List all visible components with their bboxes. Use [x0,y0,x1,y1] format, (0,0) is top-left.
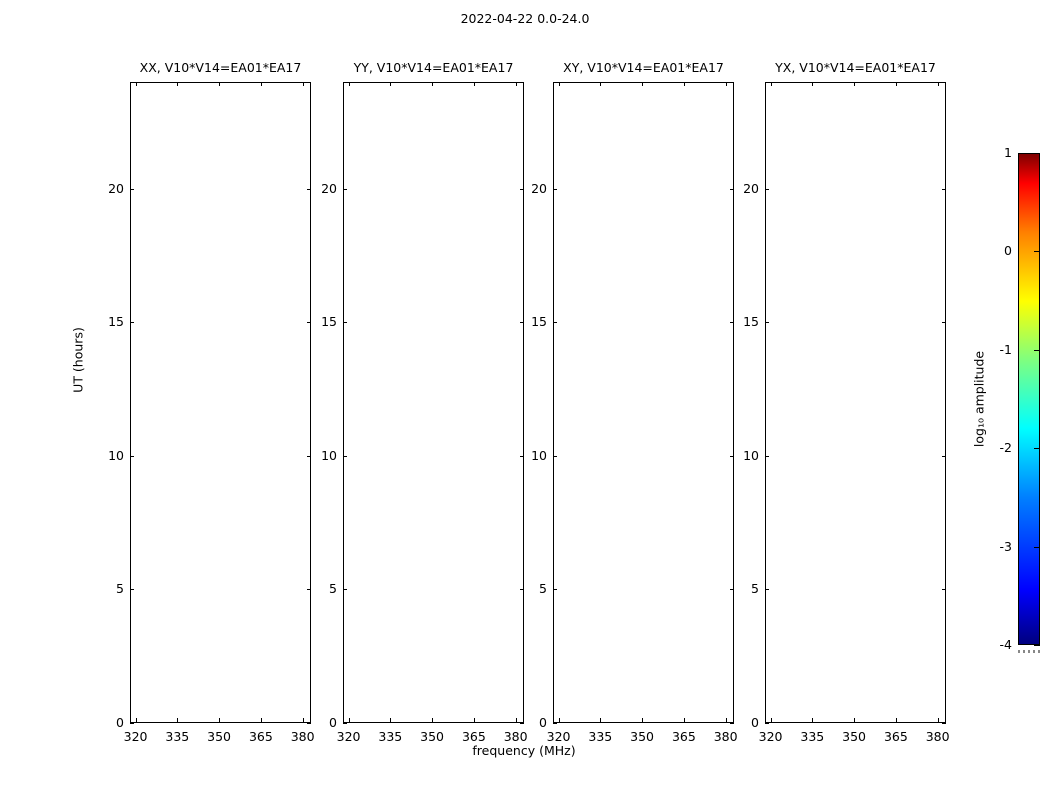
x-tick-label: 350 [199,729,239,744]
x-tick-mark-top [516,82,517,86]
panel-title-yy: YY, V10*V14=EA01*EA17 [343,60,524,75]
heatmap-panel-xx[interactable] [130,82,311,723]
colorbar-tick-mark [1034,448,1040,449]
x-tick-mark-top [896,82,897,86]
colorbar [1018,153,1040,645]
x-tick-mark [684,718,685,722]
figure-canvas: 2022-04-22 0.0-24.0 XX, V10*V14=EA01*EA1… [0,0,1050,800]
y-tick-mark-right [942,322,946,323]
x-tick-mark [726,718,727,722]
x-tick-mark [261,718,262,722]
x-tick-label: 350 [834,729,874,744]
x-tick-mark-top [432,82,433,86]
x-tick-label: 335 [157,729,197,744]
y-tick-mark [765,189,769,190]
heatmap-image-yx [766,83,945,722]
colorbar-tick-mark [1034,350,1040,351]
y-tick-mark [343,589,347,590]
y-tick-mark [553,456,557,457]
x-axis-label: frequency (MHz) [0,743,1049,758]
x-tick-mark [390,718,391,722]
x-tick-mark-top [812,82,813,86]
x-tick-label: 365 [241,729,281,744]
x-tick-label: 350 [412,729,452,744]
x-tick-mark-top [771,82,772,86]
colorbar-label: log₁₀ amplitude [972,351,987,447]
x-tick-label: 380 [706,729,746,744]
y-tick-label: 10 [521,448,547,463]
heatmap-image-xy [554,83,733,722]
y-tick-label: 20 [311,181,337,196]
figure-suptitle: 2022-04-22 0.0-24.0 [0,11,1050,26]
x-tick-mark [771,718,772,722]
colorbar-bad-marker [1018,650,1040,653]
x-tick-label: 365 [664,729,704,744]
colorbar-tick-label: -3 [988,539,1012,554]
colorbar-tick-label: -4 [988,637,1012,652]
y-tick-mark [130,322,134,323]
colorbar-tick-mark [1034,153,1040,154]
x-tick-mark [474,718,475,722]
y-tick-mark [130,456,134,457]
heatmap-panel-yy[interactable] [343,82,524,723]
x-tick-mark [349,718,350,722]
y-tick-label: 10 [733,448,759,463]
y-tick-mark [343,723,347,724]
x-tick-label: 365 [876,729,916,744]
heatmap-panel-yx[interactable] [765,82,946,723]
y-tick-mark-right [942,189,946,190]
x-tick-mark [432,718,433,722]
x-tick-mark-top [177,82,178,86]
x-tick-mark [854,718,855,722]
y-tick-label: 0 [733,715,759,730]
y-tick-mark [343,456,347,457]
y-tick-label: 0 [98,715,124,730]
y-tick-mark [553,723,557,724]
x-tick-mark-top [600,82,601,86]
x-tick-label: 335 [792,729,832,744]
x-tick-mark [812,718,813,722]
y-tick-mark [553,189,557,190]
x-tick-mark-top [474,82,475,86]
y-tick-label: 15 [521,314,547,329]
x-tick-label: 320 [751,729,791,744]
x-tick-mark [136,718,137,722]
colorbar-tick-mark [1034,645,1040,646]
y-tick-mark [765,589,769,590]
y-tick-mark [765,456,769,457]
x-tick-mark-top [390,82,391,86]
x-tick-label: 365 [454,729,494,744]
x-tick-label: 335 [370,729,410,744]
x-tick-mark-top [349,82,350,86]
x-tick-mark-top [261,82,262,86]
x-tick-mark-top [854,82,855,86]
y-tick-mark [553,589,557,590]
y-tick-mark [553,322,557,323]
panel-title-xy: XY, V10*V14=EA01*EA17 [553,60,734,75]
y-tick-label: 10 [98,448,124,463]
y-tick-mark-right [942,456,946,457]
y-tick-label: 5 [98,581,124,596]
x-tick-mark-top [559,82,560,86]
y-tick-mark-right [942,723,946,724]
colorbar-tick-label: 0 [988,243,1012,258]
y-tick-mark [130,589,134,590]
x-tick-mark-top [219,82,220,86]
y-tick-mark [130,189,134,190]
x-tick-mark [177,718,178,722]
x-tick-label: 380 [283,729,323,744]
colorbar-tick-mark [1034,547,1040,548]
y-tick-mark [130,723,134,724]
y-tick-label: 0 [311,715,337,730]
heatmap-image-yy [344,83,523,722]
y-axis-label: UT (hours) [71,327,86,393]
y-tick-mark [765,723,769,724]
x-tick-label: 320 [116,729,156,744]
x-tick-label: 320 [539,729,579,744]
y-tick-label: 5 [521,581,547,596]
x-tick-mark-top [938,82,939,86]
x-tick-mark [642,718,643,722]
x-tick-mark [516,718,517,722]
y-tick-label: 20 [98,181,124,196]
x-tick-mark [896,718,897,722]
x-tick-mark [938,718,939,722]
heatmap-image-xx [131,83,310,722]
x-tick-label: 320 [329,729,369,744]
x-tick-label: 380 [918,729,958,744]
y-tick-label: 5 [733,581,759,596]
x-tick-mark [559,718,560,722]
colorbar-tick-label: 1 [988,145,1012,160]
x-tick-label: 380 [496,729,536,744]
y-tick-label: 15 [98,314,124,329]
x-tick-mark-top [303,82,304,86]
x-tick-mark-top [726,82,727,86]
x-tick-mark-top [684,82,685,86]
y-tick-label: 5 [311,581,337,596]
y-tick-mark-right [942,589,946,590]
y-tick-label: 20 [733,181,759,196]
y-tick-mark [765,322,769,323]
heatmap-panel-xy[interactable] [553,82,734,723]
y-tick-label: 15 [311,314,337,329]
colorbar-tick-label: -1 [988,342,1012,357]
colorbar-tick-mark [1034,251,1040,252]
y-tick-label: 0 [521,715,547,730]
x-tick-mark [303,718,304,722]
y-tick-label: 15 [733,314,759,329]
y-tick-label: 10 [311,448,337,463]
colorbar-tick-label: -2 [988,440,1012,455]
y-tick-label: 20 [521,181,547,196]
x-tick-label: 350 [622,729,662,744]
y-tick-mark [343,322,347,323]
x-tick-mark [600,718,601,722]
panel-title-xx: XX, V10*V14=EA01*EA17 [130,60,311,75]
y-tick-mark [343,189,347,190]
x-tick-mark [219,718,220,722]
x-tick-mark-top [642,82,643,86]
x-tick-label: 335 [580,729,620,744]
panel-title-yx: YX, V10*V14=EA01*EA17 [765,60,946,75]
x-tick-mark-top [136,82,137,86]
